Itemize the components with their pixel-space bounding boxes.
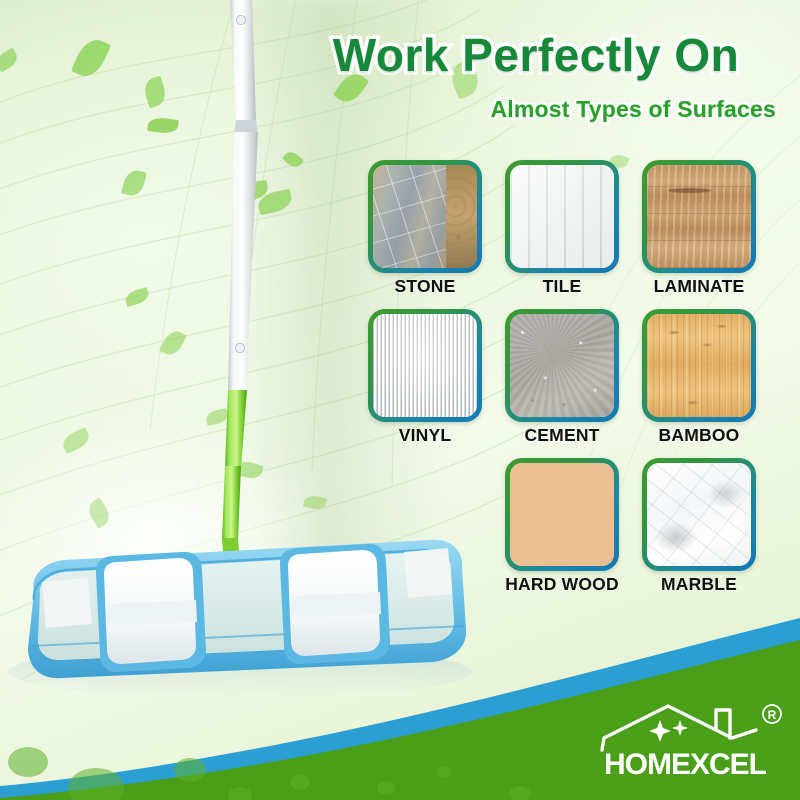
surface-card-marble[interactable]: MARBLE [637,458,761,595]
surface-label: TILE [500,276,624,297]
surface-card-tile[interactable]: TILE [500,160,624,297]
brand-wordmark: HOMEXCEL [604,748,767,781]
subheadline-text: Almost Types of Surfaces [490,96,782,123]
stone-swatch [368,160,482,273]
surface-card-laminate[interactable]: LAMINATE [637,160,761,297]
vinyl-swatch [368,309,482,422]
sparkle-icon [649,720,688,742]
surface-swatch-grid: STONE TILE LAMINATE VINYL [363,160,761,607]
marble-swatch [642,458,756,571]
brand-logo: HOMEXCEL R [596,700,786,786]
surface-label: CEMENT [500,425,624,446]
tile-swatch [505,160,619,273]
surface-row-2: VINYL CEMENT BAMBOO [363,309,761,446]
headline-container: Work Perfectly On [290,32,782,79]
surface-label: HARD WOOD [500,574,624,595]
surface-card-hardwood[interactable]: HARD WOOD [500,458,624,595]
cement-swatch [505,309,619,422]
surface-card-cement[interactable]: CEMENT [500,309,624,446]
laminate-swatch [642,160,756,273]
surface-label: VINYL [363,425,487,446]
surface-label: BAMBOO [637,425,761,446]
svg-text:R: R [768,708,777,722]
surface-row-1: STONE TILE LAMINATE [363,160,761,297]
surface-label: STONE [363,276,487,297]
promo-banner: Work Perfectly On Almost Types of Surfac… [0,0,800,800]
headline-text: Work Perfectly On [290,32,782,79]
hardwood-swatch [505,458,619,571]
surface-label: LAMINATE [637,276,761,297]
surface-row-3: HARD WOOD MARBLE [363,458,761,595]
surface-label: MARBLE [637,574,761,595]
registered-trademark-icon: R [763,705,781,723]
surface-card-stone[interactable]: STONE [363,160,487,297]
surface-card-vinyl[interactable]: VINYL [363,309,487,446]
bamboo-swatch [642,309,756,422]
subheadline-container: Almost Types of Surfaces [290,96,782,123]
surface-card-bamboo[interactable]: BAMBOO [637,309,761,446]
